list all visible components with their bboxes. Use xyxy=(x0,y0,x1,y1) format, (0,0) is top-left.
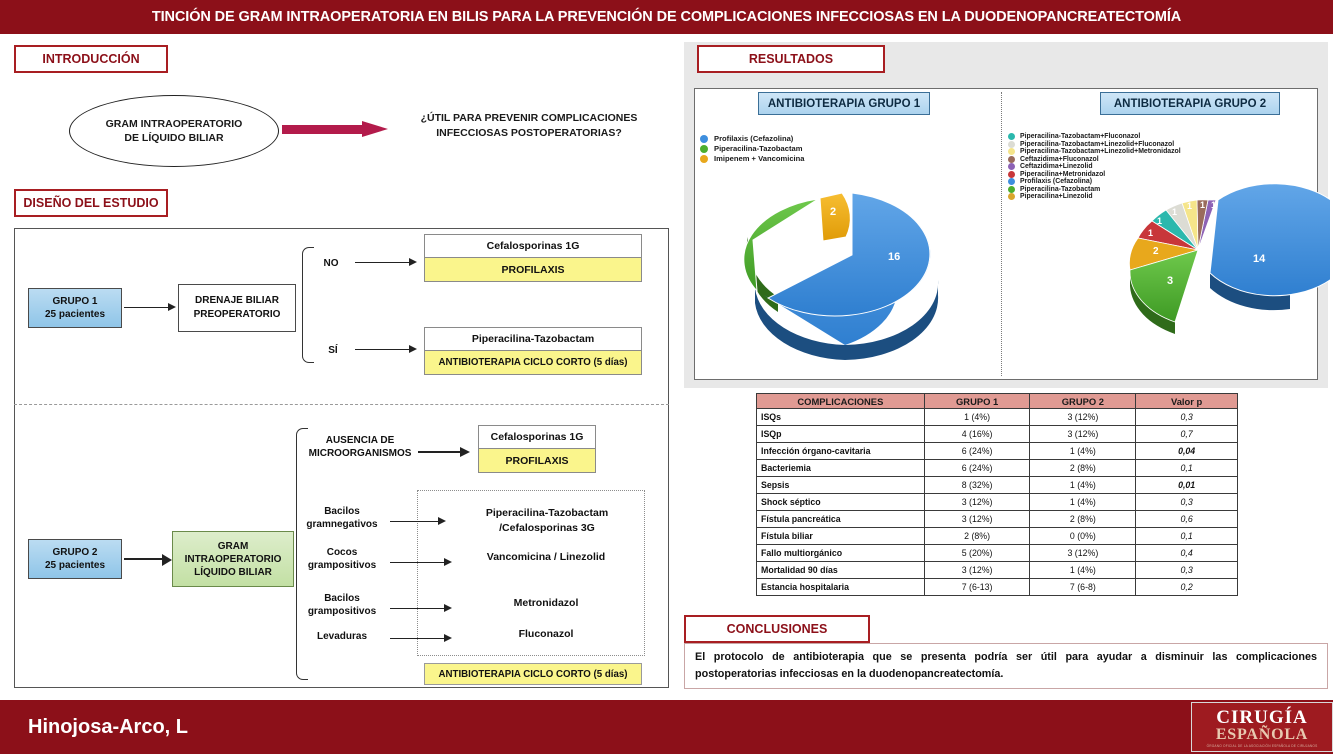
arrow-bacilos-grampos-icon xyxy=(390,604,452,613)
table-header-grupo1: GRUPO 1 xyxy=(924,394,1030,409)
cell-valorp: 0,3 xyxy=(1136,562,1238,579)
cell-complicacion: Fístula biliar xyxy=(757,528,925,545)
treatment-card-grupo1-no: Cefalosporinas 1G PROFILAXIS xyxy=(424,234,642,282)
treatment-cocos-grampos: Vancomicina / Linezolid xyxy=(456,551,636,564)
node-drenaje-biliar: DRENAJE BILIAR PREOPERATORIO xyxy=(178,284,296,332)
legend-label: Piperacilina-Tazobactam xyxy=(1020,186,1100,193)
branch-label-ausencia: AUSENCIA DE MICROORGANISMOS xyxy=(300,434,420,460)
cell-valorp: 0,3 xyxy=(1136,494,1238,511)
legend-swatch-icon xyxy=(1008,148,1015,155)
branch-label-bacilos-grampos: Bacilos grampositivos xyxy=(294,592,390,618)
chart-title-grupo1-label: ANTIBIOTERAPIA GRUPO 1 xyxy=(768,98,920,110)
node-gram-intraoperatorio: GRAM INTRAOPERATORIO LÍQUIDO BILIAR xyxy=(172,531,294,587)
legend-label: Piperacilina+Metronidazol xyxy=(1020,171,1105,178)
node-gram-line1: GRAM xyxy=(218,540,249,553)
branch-label-no: NO xyxy=(318,257,344,270)
cell-grupo1: 4 (16%) xyxy=(924,426,1030,443)
table-header-valorp: Valor p xyxy=(1136,394,1238,409)
cell-complicacion: ISQs xyxy=(757,409,925,426)
table-header-row: COMPLICACIONES GRUPO 1 GRUPO 2 Valor p xyxy=(757,394,1238,409)
cell-complicacion: ISQp xyxy=(757,426,925,443)
chart-title-grupo1: ANTIBIOTERAPIA GRUPO 1 xyxy=(758,92,930,115)
arrow-no-icon xyxy=(355,258,417,267)
branch-label-levaduras: Levaduras xyxy=(294,630,390,643)
conclusiones-box: El protocolo de antibioterapia que se pr… xyxy=(684,643,1328,689)
legend-label: Piperacilina+Linezolid xyxy=(1020,193,1093,200)
treatment-levaduras: Fluconazol xyxy=(456,628,636,641)
node-grupo2-line2: 25 pacientes xyxy=(45,559,105,572)
legend-label: Piperacilina-Tazobactam xyxy=(714,144,802,153)
table-row: Estancia hospitalaria7 (6-13)7 (6-8)0,2 xyxy=(757,579,1238,596)
treatment-card-ausencia: Cefalosporinas 1G PROFILAXIS xyxy=(478,425,596,473)
cell-grupo2: 1 (4%) xyxy=(1030,443,1136,460)
node-drenaje-line1: DRENAJE BILIAR xyxy=(195,294,279,308)
node-gram-line2: INTRAOPERATORIO xyxy=(185,553,282,566)
cell-complicacion: Estancia hospitalaria xyxy=(757,579,925,596)
pie-slice-value: 7 xyxy=(773,231,779,243)
cell-complicacion: Infección órgano-cavitaria xyxy=(757,443,925,460)
legend-item: Piperacilina+Metronidazol xyxy=(1008,171,1181,178)
arrow-ausencia-icon xyxy=(418,447,470,458)
cell-valorp: 0,7 xyxy=(1136,426,1238,443)
legend-swatch-icon xyxy=(1008,156,1015,163)
branch-label-bacilos-grampos-line1: Bacilos xyxy=(294,592,390,605)
legend-swatch-icon xyxy=(1008,193,1015,200)
intro-ellipse-line1: GRAM INTRAOPERATORIO xyxy=(106,117,243,131)
node-grupo1-line2: 25 pacientes xyxy=(45,308,105,321)
arrow-grupo2-to-gram-icon xyxy=(124,554,172,565)
chart-title-grupo2: ANTIBIOTERAPIA GRUPO 2 xyxy=(1100,92,1280,115)
cell-valorp: 0,6 xyxy=(1136,511,1238,528)
pie-slice-value: 2 xyxy=(1153,246,1159,257)
pie-slice-value: 2 xyxy=(830,206,836,218)
legend-swatch-icon xyxy=(1008,163,1015,170)
branch-label-cocos-grampos: Cocos grampositivos xyxy=(294,546,390,572)
table-row: Fallo multiorgánico5 (20%)3 (12%)0,4 xyxy=(757,545,1238,562)
conclusiones-text: El protocolo de antibioterapia que se pr… xyxy=(685,649,1327,683)
cell-grupo1: 7 (6-13) xyxy=(924,579,1030,596)
intro-ellipse-line2: DE LÍQUIDO BILIAR xyxy=(124,131,223,145)
pie-chart-grupo2: 14 3 2 1 1 1 1 1 1 xyxy=(1090,182,1330,377)
table-header-grupo2: GRUPO 2 xyxy=(1030,394,1136,409)
legend-item: Piperacilina-Tazobactam+Linezolid+Flucon… xyxy=(1008,141,1181,148)
intro-question-line2: INFECCIOSAS POSTOPERATORIAS? xyxy=(399,126,659,141)
pie-slice-value: 14 xyxy=(1253,253,1266,265)
legend-label: Profilaxis (Cefazolina) xyxy=(1020,178,1092,185)
node-drenaje-line2: PREOPERATORIO xyxy=(194,308,281,322)
cell-valorp: 0,01 xyxy=(1136,477,1238,494)
section-header-conclusiones-label: CONCLUSIONES xyxy=(727,622,828,636)
results-table: COMPLICACIONES GRUPO 1 GRUPO 2 Valor p I… xyxy=(756,393,1238,596)
cell-grupo2: 1 (4%) xyxy=(1030,477,1136,494)
table-row: Mortalidad 90 días3 (12%)1 (4%)0,3 xyxy=(757,562,1238,579)
intro-question-line1: ¿ÚTIL PARA PREVENIR COMPLICACIONES xyxy=(399,111,659,126)
cell-complicacion: Mortalidad 90 días xyxy=(757,562,925,579)
legend-item: Imipenem + Vancomicina xyxy=(700,154,805,163)
legend-swatch-icon xyxy=(1008,178,1015,185)
legend-label: Piperacilina-Tazobactam+Linezolid+Flucon… xyxy=(1020,141,1174,148)
logo-line2: ESPAÑOLA xyxy=(1216,727,1308,743)
cell-grupo1: 6 (24%) xyxy=(924,460,1030,477)
logo-line1: CIRUGÍA xyxy=(1216,709,1307,727)
legend-swatch-icon xyxy=(700,145,708,153)
diseno-section-divider xyxy=(14,404,669,405)
cell-grupo1: 6 (24%) xyxy=(924,443,1030,460)
treatment-card-grupo1-si-tag: ANTIBIOTERAPIA CICLO CORTO (5 días) xyxy=(425,350,641,374)
logo-subtitle: ÓRGANO OFICIAL DE LA ASOCIACIÓN ESPAÑOLA… xyxy=(1207,744,1318,748)
legend-item: Piperacilina-Tazobactam+Fluconazol xyxy=(1008,133,1181,140)
arrow-bacilos-gramneg-icon xyxy=(390,517,446,526)
chart-title-grupo2-label: ANTIBIOTERAPIA GRUPO 2 xyxy=(1114,98,1266,110)
pie-slice-value: 16 xyxy=(888,251,900,263)
introduccion-diagram: GRAM INTRAOPERATORIO DE LÍQUIDO BILIAR ¿… xyxy=(14,85,669,195)
table-row: Fístula biliar2 (8%)0 (0%)0,1 xyxy=(757,528,1238,545)
table-row: Infección órgano-cavitaria6 (24%)1 (4%)0… xyxy=(757,443,1238,460)
cell-valorp: 0,04 xyxy=(1136,443,1238,460)
cell-valorp: 0,4 xyxy=(1136,545,1238,562)
section-header-resultados: RESULTADOS xyxy=(697,45,885,73)
page-title: TINCIÓN DE GRAM INTRAOPERATORIA EN BILIS… xyxy=(152,9,1181,25)
node-grupo1-line1: GRUPO 1 xyxy=(52,295,97,308)
cell-complicacion: Bacteriemia xyxy=(757,460,925,477)
brace-grupo1 xyxy=(302,247,314,363)
node-grupo2-line1: GRUPO 2 xyxy=(52,546,97,559)
cell-complicacion: Fallo multiorgánico xyxy=(757,545,925,562)
treatment-card-grupo1-no-title: Cefalosporinas 1G xyxy=(425,235,641,257)
legend-swatch-icon xyxy=(700,135,708,143)
poster-footer-bar: Hinojosa-Arco, L CIRUGÍA ESPAÑOLA ÓRGANO… xyxy=(0,700,1333,754)
pie-slice-value: 1 xyxy=(1187,201,1192,211)
section-header-introduccion: INTRODUCCIÓN xyxy=(14,45,168,73)
treatment-bacilos-gramneg-line2: /Cefalosporinas 3G xyxy=(452,521,642,536)
pie-slice-value: 1 xyxy=(1157,216,1162,226)
intro-arrow-icon xyxy=(282,121,392,137)
node-grupo2: GRUPO 2 25 pacientes xyxy=(28,539,122,579)
cell-grupo1: 1 (4%) xyxy=(924,409,1030,426)
branch-label-cocos-grampos-line2: grampositivos xyxy=(294,559,390,572)
branch-label-ausencia-line1: AUSENCIA DE xyxy=(300,434,420,447)
legend-label: Ceftazidima+Linezolid xyxy=(1020,163,1093,170)
table-header-complicaciones: COMPLICACIONES xyxy=(757,394,925,409)
branch-label-bacilos-gramneg: Bacilos gramnegativos xyxy=(294,505,390,531)
legend-item: Piperacilina-Tazobactam+Linezolid+Metron… xyxy=(1008,148,1181,155)
arrow-levaduras-icon xyxy=(390,634,452,643)
cell-grupo2: 3 (12%) xyxy=(1030,409,1136,426)
legend-item: Profilaxis (Cefazolina) xyxy=(700,134,805,143)
treatment-bacilos-gramneg: Piperacilina-Tazobactam /Cefalosporinas … xyxy=(452,506,642,536)
cell-grupo2: 2 (8%) xyxy=(1030,460,1136,477)
table-row: ISQs1 (4%)3 (12%)0,3 xyxy=(757,409,1238,426)
pie-slice-value: 1 xyxy=(1172,207,1177,217)
poster-title-bar: TINCIÓN DE GRAM INTRAOPERATORIA EN BILIS… xyxy=(0,0,1333,34)
pie-slice-value: 3 xyxy=(1167,275,1173,287)
treatment-card-grupo1-si: Piperacilina-Tazobactam ANTIBIOTERAPIA C… xyxy=(424,327,642,375)
legend-item: Ceftazidima+Fluconazol xyxy=(1008,156,1181,163)
cell-grupo2: 1 (4%) xyxy=(1030,562,1136,579)
table-row: Shock séptico3 (12%)1 (4%)0,3 xyxy=(757,494,1238,511)
arrow-si-icon xyxy=(355,345,417,354)
arrow-cocos-grampos-icon xyxy=(390,558,452,567)
legend-label: Piperacilina-Tazobactam+Linezolid+Metron… xyxy=(1020,148,1181,155)
treatment-card-ausencia-title: Cefalosporinas 1G xyxy=(479,426,595,448)
legend-item: Ceftazidima+Linezolid xyxy=(1008,163,1181,170)
cell-valorp: 0,3 xyxy=(1136,409,1238,426)
cell-valorp: 0,2 xyxy=(1136,579,1238,596)
cell-complicacion: Fístula pancreática xyxy=(757,511,925,528)
pie-chart-grupo1: 16 7 2 xyxy=(700,185,1000,375)
node-gram-line3: LÍQUIDO BILIAR xyxy=(194,566,272,579)
cell-grupo2: 0 (0%) xyxy=(1030,528,1136,545)
cell-grupo1: 3 (12%) xyxy=(924,494,1030,511)
treatment-card-grupo1-no-tag: PROFILAXIS xyxy=(425,257,641,281)
legend-swatch-icon xyxy=(1008,133,1015,140)
cell-grupo2: 3 (12%) xyxy=(1030,545,1136,562)
cell-grupo2: 2 (8%) xyxy=(1030,511,1136,528)
cell-grupo2: 3 (12%) xyxy=(1030,426,1136,443)
footer-author-name: Hinojosa-Arco, L xyxy=(28,716,188,739)
legend-swatch-icon xyxy=(700,155,708,163)
branch-label-bacilos-gramneg-line1: Bacilos xyxy=(294,505,390,518)
cell-grupo1: 8 (32%) xyxy=(924,477,1030,494)
cirugia-espanola-logo: CIRUGÍA ESPAÑOLA ÓRGANO OFICIAL DE LA AS… xyxy=(1191,702,1333,752)
legend-label: Piperacilina-Tazobactam+Fluconazol xyxy=(1020,133,1140,140)
treatment-card-grupo1-si-title: Piperacilina-Tazobactam xyxy=(425,328,641,350)
cell-grupo2: 1 (4%) xyxy=(1030,494,1136,511)
cell-complicacion: Sepsis xyxy=(757,477,925,494)
intro-question-text: ¿ÚTIL PARA PREVENIR COMPLICACIONES INFEC… xyxy=(399,111,659,141)
intro-ellipse-node: GRAM INTRAOPERATORIO DE LÍQUIDO BILIAR xyxy=(69,95,279,167)
section-header-diseno-label: DISEÑO DEL ESTUDIO xyxy=(23,196,158,210)
cell-valorp: 0,1 xyxy=(1136,460,1238,477)
table-row: Sepsis8 (32%)1 (4%)0,01 xyxy=(757,477,1238,494)
section-header-resultados-label: RESULTADOS xyxy=(749,52,833,66)
cell-grupo1: 3 (12%) xyxy=(924,562,1030,579)
treatment-card-ausencia-tag: PROFILAXIS xyxy=(479,448,595,472)
charts-divider xyxy=(1001,92,1002,376)
treatment-bacilos-gramneg-line1: Piperacilina-Tazobactam xyxy=(452,506,642,521)
branch-label-cocos-grampos-line1: Cocos xyxy=(294,546,390,559)
legend-swatch-icon xyxy=(1008,186,1015,193)
legend-label: Imipenem + Vancomicina xyxy=(714,154,805,163)
cell-grupo1: 5 (20%) xyxy=(924,545,1030,562)
section-header-introduccion-label: INTRODUCCIÓN xyxy=(42,52,139,66)
pie-slice-value: 1 xyxy=(1200,200,1205,210)
treatment-bacilos-grampos: Metronidazol xyxy=(456,597,636,610)
chart-legend-grupo1: Profilaxis (Cefazolina) Piperacilina-Taz… xyxy=(700,134,805,164)
cell-complicacion: Shock séptico xyxy=(757,494,925,511)
cell-grupo1: 2 (8%) xyxy=(924,528,1030,545)
node-grupo1: GRUPO 1 25 pacientes xyxy=(28,288,122,328)
section-header-conclusiones: CONCLUSIONES xyxy=(684,615,870,643)
cell-grupo1: 3 (12%) xyxy=(924,511,1030,528)
branch-label-si: SÍ xyxy=(320,344,346,357)
branch-label-bacilos-grampos-line2: grampositivos xyxy=(294,605,390,618)
cell-grupo2: 7 (6-8) xyxy=(1030,579,1136,596)
arrow-grupo1-to-drenaje-icon xyxy=(124,303,176,312)
table-row: Fístula pancreática3 (12%)2 (8%)0,6 xyxy=(757,511,1238,528)
legend-label: Ceftazidima+Fluconazol xyxy=(1020,156,1099,163)
table-row: Bacteriemia6 (24%)2 (8%)0,1 xyxy=(757,460,1238,477)
legend-item: Piperacilina-Tazobactam xyxy=(700,144,805,153)
branch-label-levaduras-line1: Levaduras xyxy=(294,630,390,643)
cell-valorp: 0,1 xyxy=(1136,528,1238,545)
table-row: ISQp4 (16%)3 (12%)0,7 xyxy=(757,426,1238,443)
pie-slice-value: 1 xyxy=(1211,200,1216,210)
branch-label-bacilos-gramneg-line2: gramnegativos xyxy=(294,518,390,531)
branch-label-ausencia-line2: MICROORGANISMOS xyxy=(300,447,420,460)
legend-label: Profilaxis (Cefazolina) xyxy=(714,134,793,143)
legend-swatch-icon xyxy=(1008,141,1015,148)
legend-swatch-icon xyxy=(1008,171,1015,178)
pie-slice-value: 1 xyxy=(1148,228,1153,238)
grupo2-footer-band: ANTIBIOTERAPIA CICLO CORTO (5 días) xyxy=(424,663,642,685)
